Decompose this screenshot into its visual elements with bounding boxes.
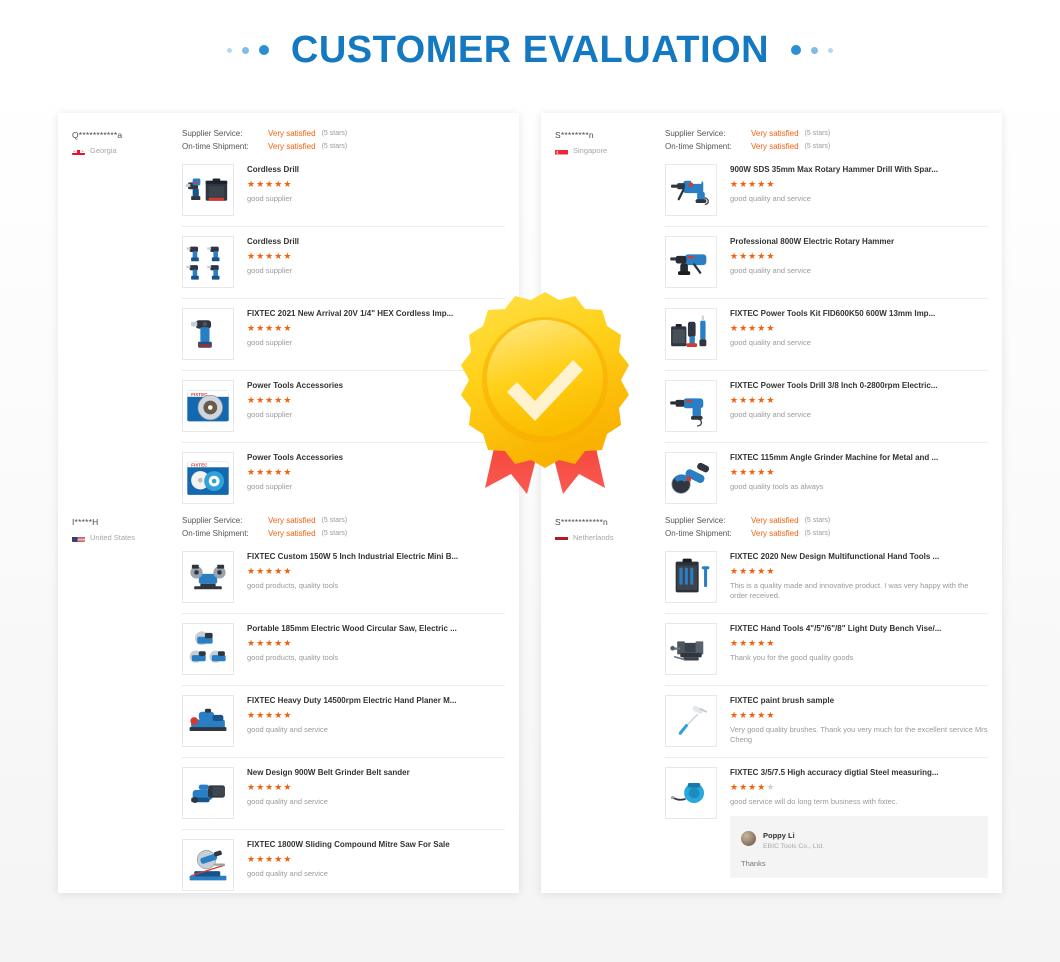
product-title[interactable]: Cordless Drill	[247, 165, 505, 175]
review-comment: good supplier	[247, 410, 505, 421]
review-comment: good quality and service	[730, 266, 988, 277]
rating-stars: ★★★★★	[247, 639, 505, 648]
on-time-shipment-note: (5 stars)	[322, 530, 348, 537]
star-filled: ★	[247, 782, 256, 792]
review-comment: Thank you for the good quality goods	[730, 653, 988, 664]
star-filled: ★	[739, 467, 748, 477]
star-filled: ★	[748, 782, 757, 792]
star-filled: ★	[730, 395, 739, 405]
review-item[interactable]: Cordless Drill★★★★★good supplier	[182, 226, 505, 298]
on-time-shipment-row: On-time Shipment:Very satisfied(5 stars)	[665, 142, 988, 151]
product-title[interactable]: FIXTEC Power Tools Kit FID600K50 600W 13…	[730, 309, 988, 319]
star-filled: ★	[256, 323, 265, 333]
service-ratings: Supplier Service:Very satisfied(5 stars)…	[182, 516, 505, 542]
star-filled: ★	[730, 782, 739, 792]
evaluation-panel-right: S********nSingaporeSupplier Service:Very…	[541, 113, 1002, 893]
paint-roller-icon	[668, 698, 714, 744]
review-item[interactable]: New Design 900W Belt Grinder Belt sander…	[182, 757, 505, 829]
star-filled: ★	[247, 179, 256, 189]
product-thumbnail[interactable]: FIXTEC	[182, 452, 234, 504]
product-thumbnail[interactable]	[182, 695, 234, 747]
supplier-service-row: Supplier Service:Very satisfied(5 stars)	[665, 516, 988, 525]
singapore-flag	[555, 146, 568, 155]
rating-stars: ★★★★★	[730, 639, 988, 648]
circular-saw-group-icon	[185, 626, 231, 672]
review-comment: good quality and service	[730, 410, 988, 421]
review-item[interactable]: FIXTEC Power Tools Drill 3/8 Inch 0-2800…	[665, 370, 988, 442]
product-title[interactable]: FIXTEC 115mm Angle Grinder Machine for M…	[730, 453, 988, 463]
buyer-id: S************n	[555, 517, 665, 527]
star-filled: ★	[730, 179, 739, 189]
star-filled: ★	[274, 251, 283, 261]
supplier-company: EBIC Tools Co., Ltd.	[763, 843, 824, 851]
review-comment: good quality tools as always	[730, 482, 988, 493]
svg-text:FIXTEC: FIXTEC	[191, 463, 208, 468]
review-comment: good quality and service	[247, 797, 505, 808]
product-title[interactable]: FIXTEC 2020 New Design Multifunctional H…	[730, 552, 988, 562]
product-thumbnail[interactable]	[665, 767, 717, 819]
on-time-shipment-value: Very satisfied	[751, 529, 799, 538]
review-item-body: FIXTEC 1800W Sliding Compound Mitre Saw …	[247, 839, 505, 891]
product-thumbnail[interactable]	[665, 623, 717, 675]
service-ratings: Supplier Service:Very satisfied(5 stars)…	[665, 516, 988, 542]
star-filled: ★	[766, 323, 775, 333]
on-time-shipment-value: Very satisfied	[268, 529, 316, 538]
review-item-body: FIXTEC paint brush sample★★★★★Very good …	[730, 695, 988, 747]
star-filled: ★	[766, 251, 775, 261]
star-filled: ★	[757, 251, 766, 261]
review-item-body: FIXTEC 3/5/7.5 High accuracy digtial Ste…	[730, 767, 988, 878]
star-filled: ★	[283, 323, 292, 333]
star-filled: ★	[256, 710, 265, 720]
reviewer-group: Q***********aGeorgiaSupplier Service:Ver…	[72, 129, 505, 514]
star-filled: ★	[265, 566, 274, 576]
belt-sander-icon	[185, 770, 231, 816]
on-time-shipment-row: On-time Shipment:Very satisfied(5 stars)	[182, 529, 505, 538]
on-time-shipment-label: On-time Shipment:	[665, 142, 751, 151]
cutting-disc-blade-icon: FIXTEC	[185, 383, 231, 429]
product-thumbnail[interactable]	[182, 623, 234, 675]
star-filled: ★	[265, 251, 274, 261]
star-filled: ★	[283, 467, 292, 477]
product-thumbnail[interactable]	[665, 236, 717, 288]
country-name: United States	[90, 533, 135, 542]
rotary-hammer-black-blue-icon	[668, 239, 714, 285]
star-filled: ★	[739, 251, 748, 261]
star-filled: ★	[274, 179, 283, 189]
star-filled: ★	[757, 179, 766, 189]
product-thumbnail[interactable]	[182, 767, 234, 819]
review-item-body: New Design 900W Belt Grinder Belt sander…	[247, 767, 505, 819]
product-thumbnail[interactable]	[665, 164, 717, 216]
on-time-shipment-value: Very satisfied	[268, 142, 316, 151]
rating-stars: ★★★★★	[247, 468, 505, 477]
star-filled: ★	[748, 710, 757, 720]
rating-stars: ★★★★★	[247, 711, 505, 720]
product-title[interactable]: FIXTEC Custom 150W 5 Inch Industrial Ele…	[247, 552, 505, 562]
star-filled: ★	[283, 710, 292, 720]
star-filled: ★	[247, 638, 256, 648]
review-item[interactable]: FIXTEC paint brush sample★★★★★Very good …	[665, 685, 988, 757]
review-item[interactable]: FIXTEC Heavy Duty 14500rpm Electric Hand…	[182, 685, 505, 757]
reviewer-header: S********nSingaporeSupplier Service:Very…	[555, 129, 988, 155]
star-filled: ★	[274, 323, 283, 333]
product-title[interactable]: FIXTEC 2021 New Arrival 20V 1/4" HEX Cor…	[247, 309, 505, 319]
star-filled: ★	[283, 395, 292, 405]
supplier-service-row: Supplier Service:Very satisfied(5 stars)	[182, 516, 505, 525]
star-filled: ★	[739, 638, 748, 648]
product-thumbnail[interactable]: FIXTEC	[182, 380, 234, 432]
star-filled: ★	[766, 467, 775, 477]
service-ratings: Supplier Service:Very satisfied(5 stars)…	[182, 129, 505, 155]
review-item-body: Cordless Drill★★★★★good supplier	[247, 236, 505, 288]
star-filled: ★	[757, 782, 766, 792]
product-thumbnail[interactable]	[182, 164, 234, 216]
star-filled: ★	[247, 323, 256, 333]
supplier-reply-header: Poppy LiEBIC Tools Co., Ltd.	[741, 825, 977, 851]
supplier-reply-identity: Poppy LiEBIC Tools Co., Ltd.	[763, 825, 824, 851]
review-item[interactable]: FIXTEC 2020 New Design Multifunctional H…	[665, 549, 988, 613]
star-filled: ★	[757, 395, 766, 405]
product-thumbnail[interactable]	[665, 380, 717, 432]
star-filled: ★	[265, 710, 274, 720]
review-item-body: Cordless Drill★★★★★good supplier	[247, 164, 505, 216]
star-filled: ★	[247, 251, 256, 261]
review-item-list: FIXTEC Custom 150W 5 Inch Industrial Ele…	[182, 549, 505, 893]
rating-stars: ★★★★★	[730, 252, 988, 261]
decor-dot	[828, 48, 833, 53]
star-filled: ★	[274, 854, 283, 864]
buyer-info: S************nNetherlands	[555, 516, 665, 542]
united-states-flag	[72, 533, 85, 542]
page-header: CUSTOMER EVALUATION	[0, 0, 1060, 100]
bench-grinder-icon	[185, 554, 231, 600]
star-filled: ★	[730, 467, 739, 477]
rating-stars: ★★★★★	[247, 180, 505, 189]
star-filled: ★	[283, 638, 292, 648]
evaluation-panels: Q***********aGeorgiaSupplier Service:Ver…	[58, 113, 1002, 893]
star-filled: ★	[256, 782, 265, 792]
service-ratings: Supplier Service:Very satisfied(5 stars)…	[665, 129, 988, 155]
decor-dot	[259, 45, 269, 55]
evaluation-panel-left: Q***********aGeorgiaSupplier Service:Ver…	[58, 113, 519, 893]
angle-grinder-icon	[668, 455, 714, 501]
star-filled: ★	[256, 638, 265, 648]
supplier-service-label: Supplier Service:	[182, 129, 268, 138]
star-filled: ★	[247, 395, 256, 405]
star-filled: ★	[283, 179, 292, 189]
star-filled: ★	[283, 782, 292, 792]
review-item[interactable]: 900W SDS 35mm Max Rotary Hammer Drill Wi…	[665, 162, 988, 226]
bench-vise-icon	[668, 626, 714, 672]
review-item[interactable]: FIXTECPower Tools Accessories★★★★★good s…	[182, 370, 505, 442]
cutting-disc-pack-icon: FIXTEC	[185, 455, 231, 501]
on-time-shipment-row: On-time Shipment:Very satisfied(5 stars)	[182, 142, 505, 151]
product-title[interactable]: Professional 800W Electric Rotary Hammer	[730, 237, 988, 247]
rotary-hammer-drill-blue-icon	[668, 167, 714, 213]
supplier-name: Poppy Li	[763, 831, 795, 840]
product-title[interactable]: FIXTEC paint brush sample	[730, 696, 988, 706]
product-title[interactable]: 900W SDS 35mm Max Rotary Hammer Drill Wi…	[730, 165, 988, 175]
product-title[interactable]: FIXTEC Hand Tools 4"/5"/6"/8" Light Duty…	[730, 624, 988, 634]
on-time-shipment-value: Very satisfied	[751, 142, 799, 151]
star-filled: ★	[757, 710, 766, 720]
review-item[interactable]: Cordless Drill★★★★★good supplier	[182, 162, 505, 226]
page-title: CUSTOMER EVALUATION	[291, 29, 769, 72]
product-thumbnail[interactable]	[665, 551, 717, 603]
country-name: Singapore	[573, 146, 607, 155]
supplier-reply: Poppy LiEBIC Tools Co., Ltd.Thanks	[730, 816, 988, 877]
product-title[interactable]: Power Tools Accessories	[247, 381, 505, 391]
review-item-body: Professional 800W Electric Rotary Hammer…	[730, 236, 988, 288]
review-comment: good products, quality tools	[247, 653, 505, 664]
product-thumbnail[interactable]	[665, 695, 717, 747]
star-filled: ★	[757, 323, 766, 333]
review-comment: good products, quality tools	[247, 581, 505, 592]
star-filled: ★	[748, 323, 757, 333]
decor-dot	[227, 48, 232, 53]
star-filled: ★	[274, 710, 283, 720]
buyer-info: S********nSingapore	[555, 129, 665, 155]
star-filled: ★	[265, 854, 274, 864]
star-filled: ★	[748, 638, 757, 648]
evaluation-page: CUSTOMER EVALUATION Q***********aGeorgia…	[0, 0, 1060, 962]
mitre-saw-icon	[185, 842, 231, 888]
power-tools-kit-case-icon	[668, 311, 714, 357]
review-item-body: FIXTEC Power Tools Drill 3/8 Inch 0-2800…	[730, 380, 988, 432]
star-filled: ★	[739, 710, 748, 720]
review-item-body: FIXTEC 2021 New Arrival 20V 1/4" HEX Cor…	[247, 308, 505, 360]
reviewer-header: Q***********aGeorgiaSupplier Service:Ver…	[72, 129, 505, 155]
review-comment: good supplier	[247, 338, 505, 349]
review-comment: good supplier	[247, 482, 505, 493]
review-item-body: FIXTEC Heavy Duty 14500rpm Electric Hand…	[247, 695, 505, 747]
on-time-shipment-note: (5 stars)	[805, 530, 831, 537]
supplier-reply-text: Thanks	[741, 859, 977, 868]
star-filled: ★	[247, 854, 256, 864]
review-item-list: FIXTEC 2020 New Design Multifunctional H…	[665, 549, 988, 888]
cordless-drill-set-four-icon	[185, 239, 231, 285]
star-filled: ★	[757, 467, 766, 477]
buyer-country: United States	[72, 533, 182, 542]
product-title[interactable]: Cordless Drill	[247, 237, 505, 247]
star-filled: ★	[757, 566, 766, 576]
supplier-service-label: Supplier Service:	[182, 516, 268, 525]
rating-stars: ★★★★★	[247, 567, 505, 576]
review-item-list: Cordless Drill★★★★★good supplierCordless…	[182, 162, 505, 514]
netherlands-flag	[555, 533, 568, 542]
review-comment: good service will do long term business …	[730, 797, 988, 808]
review-item[interactable]: FIXTECPower Tools Accessories★★★★★good s…	[182, 442, 505, 514]
star-filled: ★	[274, 566, 283, 576]
supplier-service-value: Very satisfied	[751, 516, 799, 525]
supplier-service-value: Very satisfied	[268, 516, 316, 525]
supplier-service-note: (5 stars)	[322, 130, 348, 137]
on-time-shipment-label: On-time Shipment:	[665, 529, 751, 538]
star-filled: ★	[730, 710, 739, 720]
rating-stars: ★★★★★	[730, 396, 988, 405]
star-filled: ★	[766, 638, 775, 648]
on-time-shipment-row: On-time Shipment:Very satisfied(5 stars)	[665, 529, 988, 538]
star-filled: ★	[766, 566, 775, 576]
star-filled: ★	[739, 323, 748, 333]
star-filled: ★	[256, 179, 265, 189]
review-item[interactable]: FIXTEC 2021 New Arrival 20V 1/4" HEX Cor…	[182, 298, 505, 370]
measuring-tape-icon	[668, 770, 714, 816]
star-filled: ★	[766, 179, 775, 189]
review-comment: This is a quality made and innovative pr…	[730, 581, 988, 603]
star-filled: ★	[265, 638, 274, 648]
star-filled: ★	[256, 467, 265, 477]
supplier-service-value: Very satisfied	[268, 129, 316, 138]
product-title[interactable]: FIXTEC Heavy Duty 14500rpm Electric Hand…	[247, 696, 505, 706]
buyer-country: Singapore	[555, 146, 665, 155]
review-item[interactable]: FIXTEC 1800W Sliding Compound Mitre Saw …	[182, 829, 505, 893]
rating-stars: ★★★★★	[730, 567, 988, 576]
country-name: Georgia	[90, 146, 117, 155]
rating-stars: ★★★★★	[730, 783, 988, 792]
review-comment: good supplier	[247, 194, 505, 205]
star-filled: ★	[283, 854, 292, 864]
header-decor-dots-left	[227, 45, 269, 55]
star-filled: ★	[265, 395, 274, 405]
star-filled: ★	[256, 566, 265, 576]
star-filled: ★	[748, 251, 757, 261]
product-title[interactable]: FIXTEC 3/5/7.5 High accuracy digtial Ste…	[730, 768, 988, 778]
hand-tools-case-icon	[668, 554, 714, 600]
star-filled: ★	[274, 782, 283, 792]
buyer-country: Georgia	[72, 146, 182, 155]
buyer-info: I*****HUnited States	[72, 516, 182, 542]
review-item[interactable]: Portable 185mm Electric Wood Circular Sa…	[182, 613, 505, 685]
review-item-body: FIXTEC 2020 New Design Multifunctional H…	[730, 551, 988, 603]
rating-stars: ★★★★★	[247, 783, 505, 792]
product-thumbnail[interactable]	[182, 308, 234, 360]
star-filled: ★	[256, 251, 265, 261]
supplier-service-note: (5 stars)	[805, 517, 831, 524]
star-filled: ★	[283, 566, 292, 576]
product-thumbnail[interactable]	[182, 236, 234, 288]
avatar	[741, 831, 756, 846]
star-filled: ★	[748, 179, 757, 189]
star-filled: ★	[265, 323, 274, 333]
georgia-flag	[72, 146, 85, 155]
rating-stars: ★★★★★	[730, 324, 988, 333]
supplier-service-note: (5 stars)	[322, 517, 348, 524]
star-filled: ★	[274, 395, 283, 405]
reviewer-header: I*****HUnited StatesSupplier Service:Ver…	[72, 516, 505, 542]
buyer-info: Q***********aGeorgia	[72, 129, 182, 155]
rating-stars: ★★★★★	[247, 324, 505, 333]
reviewer-group: I*****HUnited StatesSupplier Service:Ver…	[72, 516, 505, 893]
decor-dot	[791, 45, 801, 55]
buyer-id: Q***********a	[72, 130, 182, 140]
review-item-body: Power Tools Accessories★★★★★good supplie…	[247, 380, 505, 432]
review-item-body: FIXTEC 115mm Angle Grinder Machine for M…	[730, 452, 988, 504]
review-item-body: FIXTEC Power Tools Kit FID600K50 600W 13…	[730, 308, 988, 360]
on-time-shipment-note: (5 stars)	[322, 143, 348, 150]
header-decor-dots-right	[791, 45, 833, 55]
star-empty: ★	[766, 782, 775, 792]
country-name: Netherlands	[573, 533, 613, 542]
review-item[interactable]: FIXTEC 115mm Angle Grinder Machine for M…	[665, 442, 988, 514]
review-item-list: 900W SDS 35mm Max Rotary Hammer Drill Wi…	[665, 162, 988, 514]
buyer-id: I*****H	[72, 517, 182, 527]
review-item[interactable]: Professional 800W Electric Rotary Hammer…	[665, 226, 988, 298]
product-title[interactable]: Power Tools Accessories	[247, 453, 505, 463]
product-thumbnail[interactable]	[665, 452, 717, 504]
star-filled: ★	[256, 395, 265, 405]
reviewer-header: S************nNetherlandsSupplier Servic…	[555, 516, 988, 542]
review-comment: good quality and service	[247, 869, 505, 880]
review-item-body: 900W SDS 35mm Max Rotary Hammer Drill Wi…	[730, 164, 988, 216]
product-title[interactable]: FIXTEC 1800W Sliding Compound Mitre Saw …	[247, 840, 505, 850]
star-filled: ★	[766, 710, 775, 720]
supplier-service-label: Supplier Service:	[665, 129, 751, 138]
review-item-body: Portable 185mm Electric Wood Circular Sa…	[247, 623, 505, 675]
star-filled: ★	[265, 179, 274, 189]
product-title[interactable]: FIXTEC Power Tools Drill 3/8 Inch 0-2800…	[730, 381, 988, 391]
star-filled: ★	[748, 566, 757, 576]
cordless-impact-driver-icon	[185, 311, 231, 357]
star-filled: ★	[748, 467, 757, 477]
product-thumbnail[interactable]	[182, 839, 234, 891]
supplier-service-value: Very satisfied	[751, 129, 799, 138]
star-filled: ★	[247, 710, 256, 720]
review-comment: good quality and service	[730, 338, 988, 349]
on-time-shipment-label: On-time Shipment:	[182, 529, 268, 538]
reviewer-group: S********nSingaporeSupplier Service:Very…	[555, 129, 988, 514]
rating-stars: ★★★★★	[730, 180, 988, 189]
star-filled: ★	[766, 395, 775, 405]
decor-dot	[242, 47, 249, 54]
product-thumbnail[interactable]	[182, 551, 234, 603]
supplier-service-label: Supplier Service:	[665, 516, 751, 525]
review-comment: Very good quality brushes. Thank you ver…	[730, 725, 988, 747]
review-item[interactable]: FIXTEC Custom 150W 5 Inch Industrial Ele…	[182, 549, 505, 613]
review-comment: good supplier	[247, 266, 505, 277]
review-comment: good quality and service	[247, 725, 505, 736]
review-comment: good quality and service	[730, 194, 988, 205]
review-item[interactable]: FIXTEC Hand Tools 4"/5"/6"/8" Light Duty…	[665, 613, 988, 685]
star-filled: ★	[730, 251, 739, 261]
product-title[interactable]: New Design 900W Belt Grinder Belt sander	[247, 768, 505, 778]
review-item[interactable]: FIXTEC 3/5/7.5 High accuracy digtial Ste…	[665, 757, 988, 888]
star-filled: ★	[739, 566, 748, 576]
product-thumbnail[interactable]	[665, 308, 717, 360]
supplier-service-note: (5 stars)	[805, 130, 831, 137]
star-filled: ★	[265, 467, 274, 477]
review-item[interactable]: FIXTEC Power Tools Kit FID600K50 600W 13…	[665, 298, 988, 370]
review-item-body: FIXTEC Hand Tools 4"/5"/6"/8" Light Duty…	[730, 623, 988, 675]
reviewer-group: S************nNetherlandsSupplier Servic…	[555, 516, 988, 888]
rating-stars: ★★★★★	[247, 252, 505, 261]
star-filled: ★	[730, 566, 739, 576]
on-time-shipment-label: On-time Shipment:	[182, 142, 268, 151]
star-filled: ★	[730, 638, 739, 648]
product-title[interactable]: Portable 185mm Electric Wood Circular Sa…	[247, 624, 505, 634]
electric-drill-blue-icon	[668, 383, 714, 429]
on-time-shipment-note: (5 stars)	[805, 143, 831, 150]
rating-stars: ★★★★★	[730, 711, 988, 720]
supplier-service-row: Supplier Service:Very satisfied(5 stars)	[182, 129, 505, 138]
review-item-body: FIXTEC Custom 150W 5 Inch Industrial Ele…	[247, 551, 505, 603]
rating-stars: ★★★★★	[247, 855, 505, 864]
star-filled: ★	[739, 782, 748, 792]
cordless-drill-with-case-icon	[185, 167, 231, 213]
review-item-body: Power Tools Accessories★★★★★good supplie…	[247, 452, 505, 504]
star-filled: ★	[739, 179, 748, 189]
